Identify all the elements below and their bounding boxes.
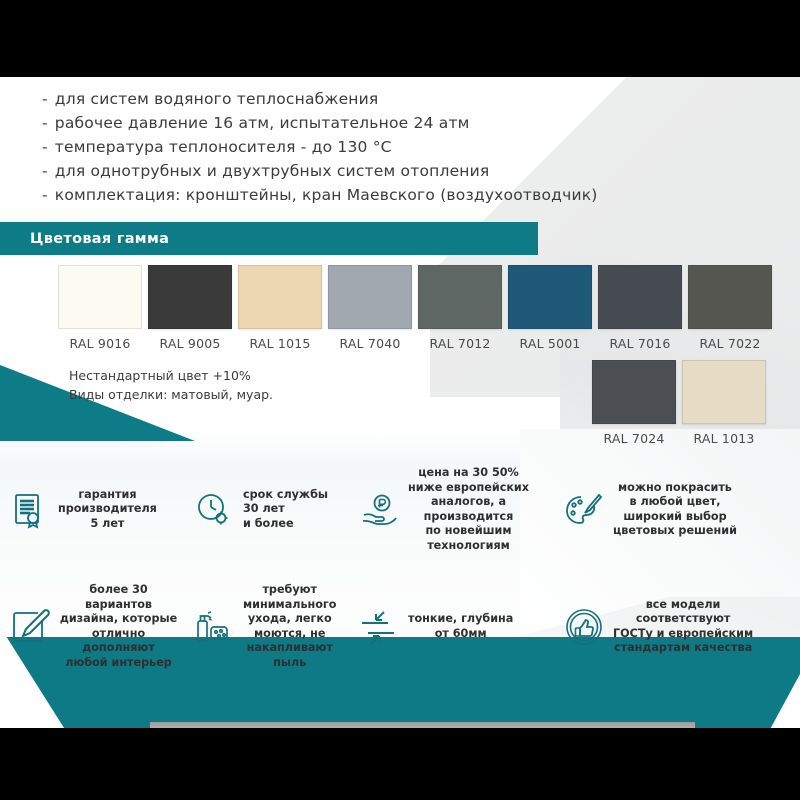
slide-canvas: - для систем водяного теплоснабжения - р… (0, 77, 800, 728)
color-swatch-label: RAL 5001 (519, 336, 580, 351)
color-swatch-chip[interactable] (508, 265, 592, 329)
feature-item: тонкие, глубинаот 60мм (350, 579, 555, 674)
color-range-header: Цветовая гамма (0, 222, 538, 255)
feature-text: можно покраситьв любой цвет,широкий выбо… (613, 481, 737, 539)
color-swatch-row-secondary: RAL 7024RAL 1013 (592, 360, 772, 446)
feature-text-line: производится (408, 510, 529, 525)
feature-text-line: соответствуют (613, 612, 753, 627)
spec-item-label: температура теплоносителя - до 130 °C (55, 135, 392, 159)
spray-sponge-icon (191, 604, 237, 650)
note-line: Виды отделки: матовый, муар. (69, 385, 273, 404)
clock-gear-icon (191, 487, 237, 533)
feature-item: срок службы30 лети более (185, 462, 350, 557)
specification-list: - для систем водяного теплоснабжения - р… (42, 87, 642, 207)
feature-text-line: и более (243, 517, 328, 532)
color-swatch-chip[interactable] (418, 265, 502, 329)
bullet-dash-icon: - (42, 159, 48, 183)
color-swatch[interactable]: RAL 7022 (688, 265, 772, 351)
color-swatch-label: RAL 7012 (429, 336, 490, 351)
feature-item: цена на 30 50%ниже европейскиханалогов, … (350, 462, 555, 557)
bullet-dash-icon: - (42, 111, 48, 135)
bullet-dash-icon: - (42, 183, 48, 207)
spec-item-label: комплектация: кронштейны, кран Маевского… (55, 183, 598, 207)
feature-text-line: в любой цвет, (613, 495, 737, 510)
color-swatch-label: RAL 7040 (339, 336, 400, 351)
color-swatch[interactable]: RAL 7016 (598, 265, 682, 351)
color-range-notes: Нестандартный цвет +10% Виды отделки: ма… (69, 366, 273, 404)
color-swatch-chip[interactable] (592, 360, 676, 424)
feature-text-line: срок службы (243, 488, 328, 503)
spec-item-label: для однотрубных и двухтрубных систем ото… (55, 159, 490, 183)
feature-text-line: ниже европейских (408, 481, 529, 496)
color-swatch-label: RAL 7022 (699, 336, 760, 351)
feature-text-line: аналогов, а (408, 495, 529, 510)
feature-text: гарантияпроизводителя5 лет (58, 488, 157, 532)
feature-text-line: цена на 30 50% (408, 466, 529, 481)
feature-text-line: 30 лет (243, 502, 328, 517)
feature-text-line: широкий выбор (613, 510, 737, 525)
palette-brush-icon (561, 487, 607, 533)
color-swatch-chip[interactable] (238, 265, 322, 329)
spec-item: - рабочее давление 16 атм, испытательное… (42, 111, 642, 135)
feature-text-line: тонкие, глубина (408, 612, 513, 627)
feature-text-line: дизайна, которые (58, 612, 179, 627)
feature-item: все моделисоответствуютГОСТу и европейск… (555, 579, 795, 674)
thumbs-up-badge-icon (561, 604, 607, 650)
features-section: гарантияпроизводителя5 летсрок службы30 … (0, 462, 800, 674)
certificate-icon (6, 487, 52, 533)
color-swatch-chip[interactable] (328, 265, 412, 329)
spec-item-label: рабочее давление 16 атм, испытательное 2… (55, 111, 470, 135)
color-swatch-chip[interactable] (598, 265, 682, 329)
feature-text-line: гарантия (58, 488, 157, 503)
spec-item: - комплектация: кронштейны, кран Маевско… (42, 183, 642, 207)
color-swatch[interactable]: RAL 9016 (58, 265, 142, 351)
color-swatch-label: RAL 1015 (249, 336, 310, 351)
feature-text: цена на 30 50%ниже европейскиханалогов, … (408, 466, 529, 553)
color-swatch-label: RAL 1013 (693, 431, 754, 446)
feature-text-line: отлично дополняют (58, 627, 179, 656)
feature-text-line: все модели (613, 598, 753, 613)
color-swatch-chip[interactable] (148, 265, 232, 329)
feature-text-line: пыль (243, 656, 336, 671)
color-swatch-row-primary: RAL 9016RAL 9005RAL 1015RAL 7040RAL 7012… (58, 265, 778, 351)
color-range-title: Цветовая гамма (30, 231, 169, 247)
feature-text-line: вариантов (58, 598, 179, 613)
bullet-dash-icon: - (42, 135, 48, 159)
features-row-gap (0, 557, 800, 579)
feature-text: все моделисоответствуютГОСТу и европейск… (613, 598, 753, 656)
color-swatch-label: RAL 9005 (159, 336, 220, 351)
feature-text-line: накапливают (243, 641, 336, 656)
feature-text-line: ухода, легко (243, 612, 336, 627)
feature-text-line: стандартам качества (613, 641, 753, 656)
feature-text: срок службы30 лети более (243, 488, 328, 532)
hand-ruble-icon (356, 487, 402, 533)
feature-item: требуютминимальногоухода, легкомоются, н… (185, 579, 350, 674)
feature-text-line: производителя (58, 502, 157, 517)
bullet-dash-icon: - (42, 87, 48, 111)
feature-text-line: ГОСТу и европейским (613, 627, 753, 642)
letterbox-bottom (0, 728, 800, 800)
feature-text-line: можно покрасить (613, 481, 737, 496)
feature-item: более 30вариантовдизайна, которыеотлично… (0, 579, 185, 674)
compress-arrows-icon (356, 604, 402, 650)
color-swatch-label: RAL 7024 (603, 431, 664, 446)
spec-item: - для систем водяного теплоснабжения (42, 87, 642, 111)
feature-item: гарантияпроизводителя5 лет (0, 462, 185, 557)
color-swatch[interactable]: RAL 1015 (238, 265, 322, 351)
feature-text-line: от 60мм (408, 627, 513, 642)
color-swatch-label: RAL 9016 (69, 336, 130, 351)
feature-text-line: более 30 (58, 583, 179, 598)
color-swatch[interactable]: RAL 7040 (328, 265, 412, 351)
feature-text-line: 5 лет (58, 517, 157, 532)
feature-text: более 30вариантовдизайна, которыеотлично… (58, 583, 179, 670)
color-swatch[interactable]: RAL 5001 (508, 265, 592, 351)
feature-item: можно покраситьв любой цвет,широкий выбо… (555, 462, 795, 557)
feature-text-line: любой интерьер (58, 656, 179, 671)
features-grid: гарантияпроизводителя5 летсрок службы30 … (0, 462, 800, 674)
letterbox-top (0, 0, 800, 77)
spec-item: - температура теплоносителя - до 130 °C (42, 135, 642, 159)
color-swatch[interactable]: RAL 7012 (418, 265, 502, 351)
color-swatch[interactable]: RAL 9005 (148, 265, 232, 351)
feature-text-line: требуют (243, 583, 336, 598)
feature-text: требуютминимальногоухода, легкомоются, н… (243, 583, 336, 670)
spec-item-label: для систем водяного теплоснабжения (55, 87, 379, 111)
note-line: Нестандартный цвет +10% (69, 366, 273, 385)
feature-text-line: цветовых решений (613, 524, 737, 539)
pencil-edit-icon (6, 604, 52, 650)
color-swatch-label: RAL 7016 (609, 336, 670, 351)
color-swatch-chip[interactable] (688, 265, 772, 329)
feature-text-line: моются, не (243, 627, 336, 642)
feature-text-line: по новейшим (408, 524, 529, 539)
feature-text-line: технологиям (408, 539, 529, 554)
presentation-slide: - для систем водяного теплоснабжения - р… (0, 0, 800, 800)
feature-text-line: минимального (243, 598, 336, 613)
feature-text: тонкие, глубинаот 60мм (408, 612, 513, 641)
spec-item: - для однотрубных и двухтрубных систем о… (42, 159, 642, 183)
color-swatch-chip[interactable] (682, 360, 766, 424)
color-swatch-chip[interactable] (58, 265, 142, 329)
color-swatch[interactable]: RAL 1013 (682, 360, 766, 446)
color-swatch[interactable]: RAL 7024 (592, 360, 676, 446)
